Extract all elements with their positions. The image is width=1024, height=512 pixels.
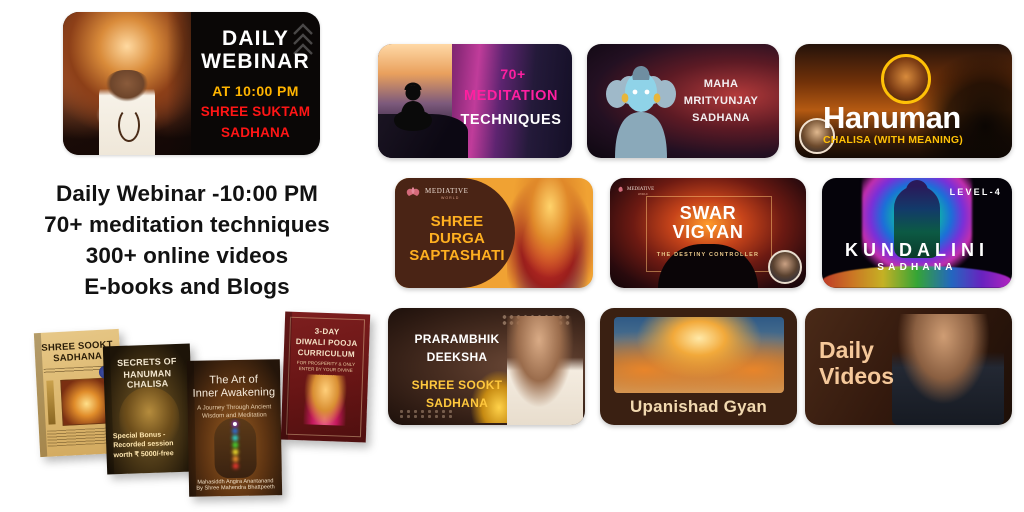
durga-deity-art xyxy=(507,178,593,288)
hanuman-medallion-icon xyxy=(881,54,931,104)
maha-mrityunjay-sadhana-card[interactable]: MAHA MRITYUNJAY SADHANA xyxy=(587,44,779,158)
card-line4: SADHANA xyxy=(426,396,488,410)
daily-webinar-banner[interactable]: DAILY WEBINAR AT 10:00 PM SHREE SUKTAM S… xyxy=(63,12,320,155)
card-line3: TECHNIQUES xyxy=(450,112,572,128)
guru-portrait xyxy=(507,316,583,425)
chakra-dots-icon xyxy=(233,422,237,426)
banner-subtitle-line1: SHREE SUKTAM xyxy=(201,104,310,120)
lakshmi-deity-art xyxy=(303,374,347,425)
banner-title-line2: WEBINAR xyxy=(201,50,310,74)
card-line1: SHREE xyxy=(431,213,484,230)
card-line2: DURGA xyxy=(429,230,485,247)
card-line2: VIGYAN xyxy=(673,222,744,242)
avatar xyxy=(768,250,802,284)
svg-text:MEDIATIVE: MEDIATIVE xyxy=(627,187,654,192)
book-ornament-bar xyxy=(46,380,55,424)
art-of-inner-awakening-book[interactable]: The Art of Inner Awakening A Journey Thr… xyxy=(187,359,282,497)
banner-time: AT 10:00 PM xyxy=(212,83,299,99)
kundalini-sadhana-card[interactable]: LEVEL-4 KUNDALINI SADHANA xyxy=(822,178,1012,288)
svg-text:WORLD: WORLD xyxy=(638,192,648,196)
prarambhik-deeksha-card[interactable]: PRARAMBHIK DEEKSHA SHREE SOOKT SADHANA xyxy=(388,308,585,425)
shree-durga-saptashati-card[interactable]: MEDIATIVE WORLD SHREE DURGA SAPTASHATI xyxy=(395,178,593,288)
secrets-of-hanuman-chalisa-book[interactable]: SECRETS OF HANUMAN CHALISA Special Bonus… xyxy=(103,344,194,475)
card-level-badge: LEVEL-4 xyxy=(950,187,1002,197)
card-title: Hanuman xyxy=(823,102,1009,133)
svg-text:WORLD: WORLD xyxy=(441,196,459,200)
banner-title-line1: DAILY xyxy=(222,27,289,51)
card-title-block: SWAR VIGYAN xyxy=(646,204,770,243)
card-line3: SHREE SOOKT xyxy=(412,378,503,392)
svg-text:MEDIATIVE: MEDIATIVE xyxy=(425,187,469,195)
book-title-line1: SECRETS OF xyxy=(103,356,190,369)
card-line1: SWAR xyxy=(680,203,736,223)
feature-line-3: 300+ online videos xyxy=(12,240,362,271)
card-count-label: 70+ xyxy=(458,66,568,82)
card-line1: Daily xyxy=(819,337,874,363)
hanuman-chalisa-card[interactable]: Hanuman CHALISA (WITH MEANING) xyxy=(795,44,1012,158)
card-line3: SAPTASHATI xyxy=(409,247,505,264)
feature-line-4: E-books and Blogs xyxy=(12,271,362,302)
card-line1: PRARAMBHIK xyxy=(415,332,500,346)
book-title-line1: The Art of xyxy=(187,373,280,387)
card-title: Upanishad Gyan xyxy=(600,397,797,417)
3-day-diwali-pooja-curriculum-book[interactable]: 3-DAY DIWALI POOJA CURRICULUM FOR PROSPE… xyxy=(281,312,370,443)
upanishad-gyan-card[interactable]: Upanishad Gyan xyxy=(600,308,797,425)
card-title-block: PRARAMBHIK DEEKSHA xyxy=(398,330,516,366)
banner-subtitle-line2: SADHANA xyxy=(221,125,290,141)
book-author-line2: By Shree Mahendra Bhattpeeth xyxy=(195,484,276,493)
mediative-world-logo-icon: MEDIATIVE WORLD xyxy=(616,183,668,196)
sages-assembly-art xyxy=(614,317,784,393)
promo-collage: DAILY WEBINAR AT 10:00 PM SHREE SUKTAM S… xyxy=(0,0,1024,512)
meditation-techniques-card[interactable]: 70+ MEDITATION TECHNIQUES xyxy=(378,44,572,158)
mediative-world-logo-icon: MEDIATIVE WORLD xyxy=(403,184,485,202)
book-title-line2: Inner Awakening xyxy=(187,386,280,400)
feature-list: Daily Webinar -10:00 PM 70+ meditation t… xyxy=(12,178,362,302)
card-title: KUNDALINI xyxy=(826,240,1008,261)
card-label: MAHA MRITYUNJAY SADHANA xyxy=(671,76,771,127)
feature-line-1: Daily Webinar -10:00 PM xyxy=(12,178,362,209)
banner-text-block: DAILY WEBINAR AT 10:00 PM SHREE SUKTAM S… xyxy=(191,12,320,155)
card-line2: DEEKSHA xyxy=(427,350,488,364)
book-bonus-text: Special Bonus - Recorded session worth ₹… xyxy=(113,429,187,460)
card-line2: MEDITATION xyxy=(450,88,572,104)
yoga-meditation-silhouette-icon xyxy=(390,80,436,138)
card-line2: Videos xyxy=(819,363,894,389)
daily-videos-card[interactable]: Daily Videos xyxy=(805,308,1012,425)
meditating-figure-art xyxy=(214,418,257,479)
card-subtitle: SADHANA xyxy=(826,262,1008,273)
swar-vigyan-card[interactable]: MEDIATIVE WORLD SWAR VIGYAN THE DESTINY … xyxy=(610,178,806,288)
card-subtitle: CHALISA (WITH MEANING) xyxy=(823,134,1009,146)
feature-line-2: 70+ meditation techniques xyxy=(12,209,362,240)
card-title-block: Daily Videos xyxy=(819,338,919,390)
card-subtitle: THE DESTINY CONTROLLER xyxy=(646,252,770,258)
card-title-block: SHREE DURGA SAPTASHATI xyxy=(401,214,513,264)
card-subtitle-block: SHREE SOOKT SADHANA xyxy=(398,376,516,412)
